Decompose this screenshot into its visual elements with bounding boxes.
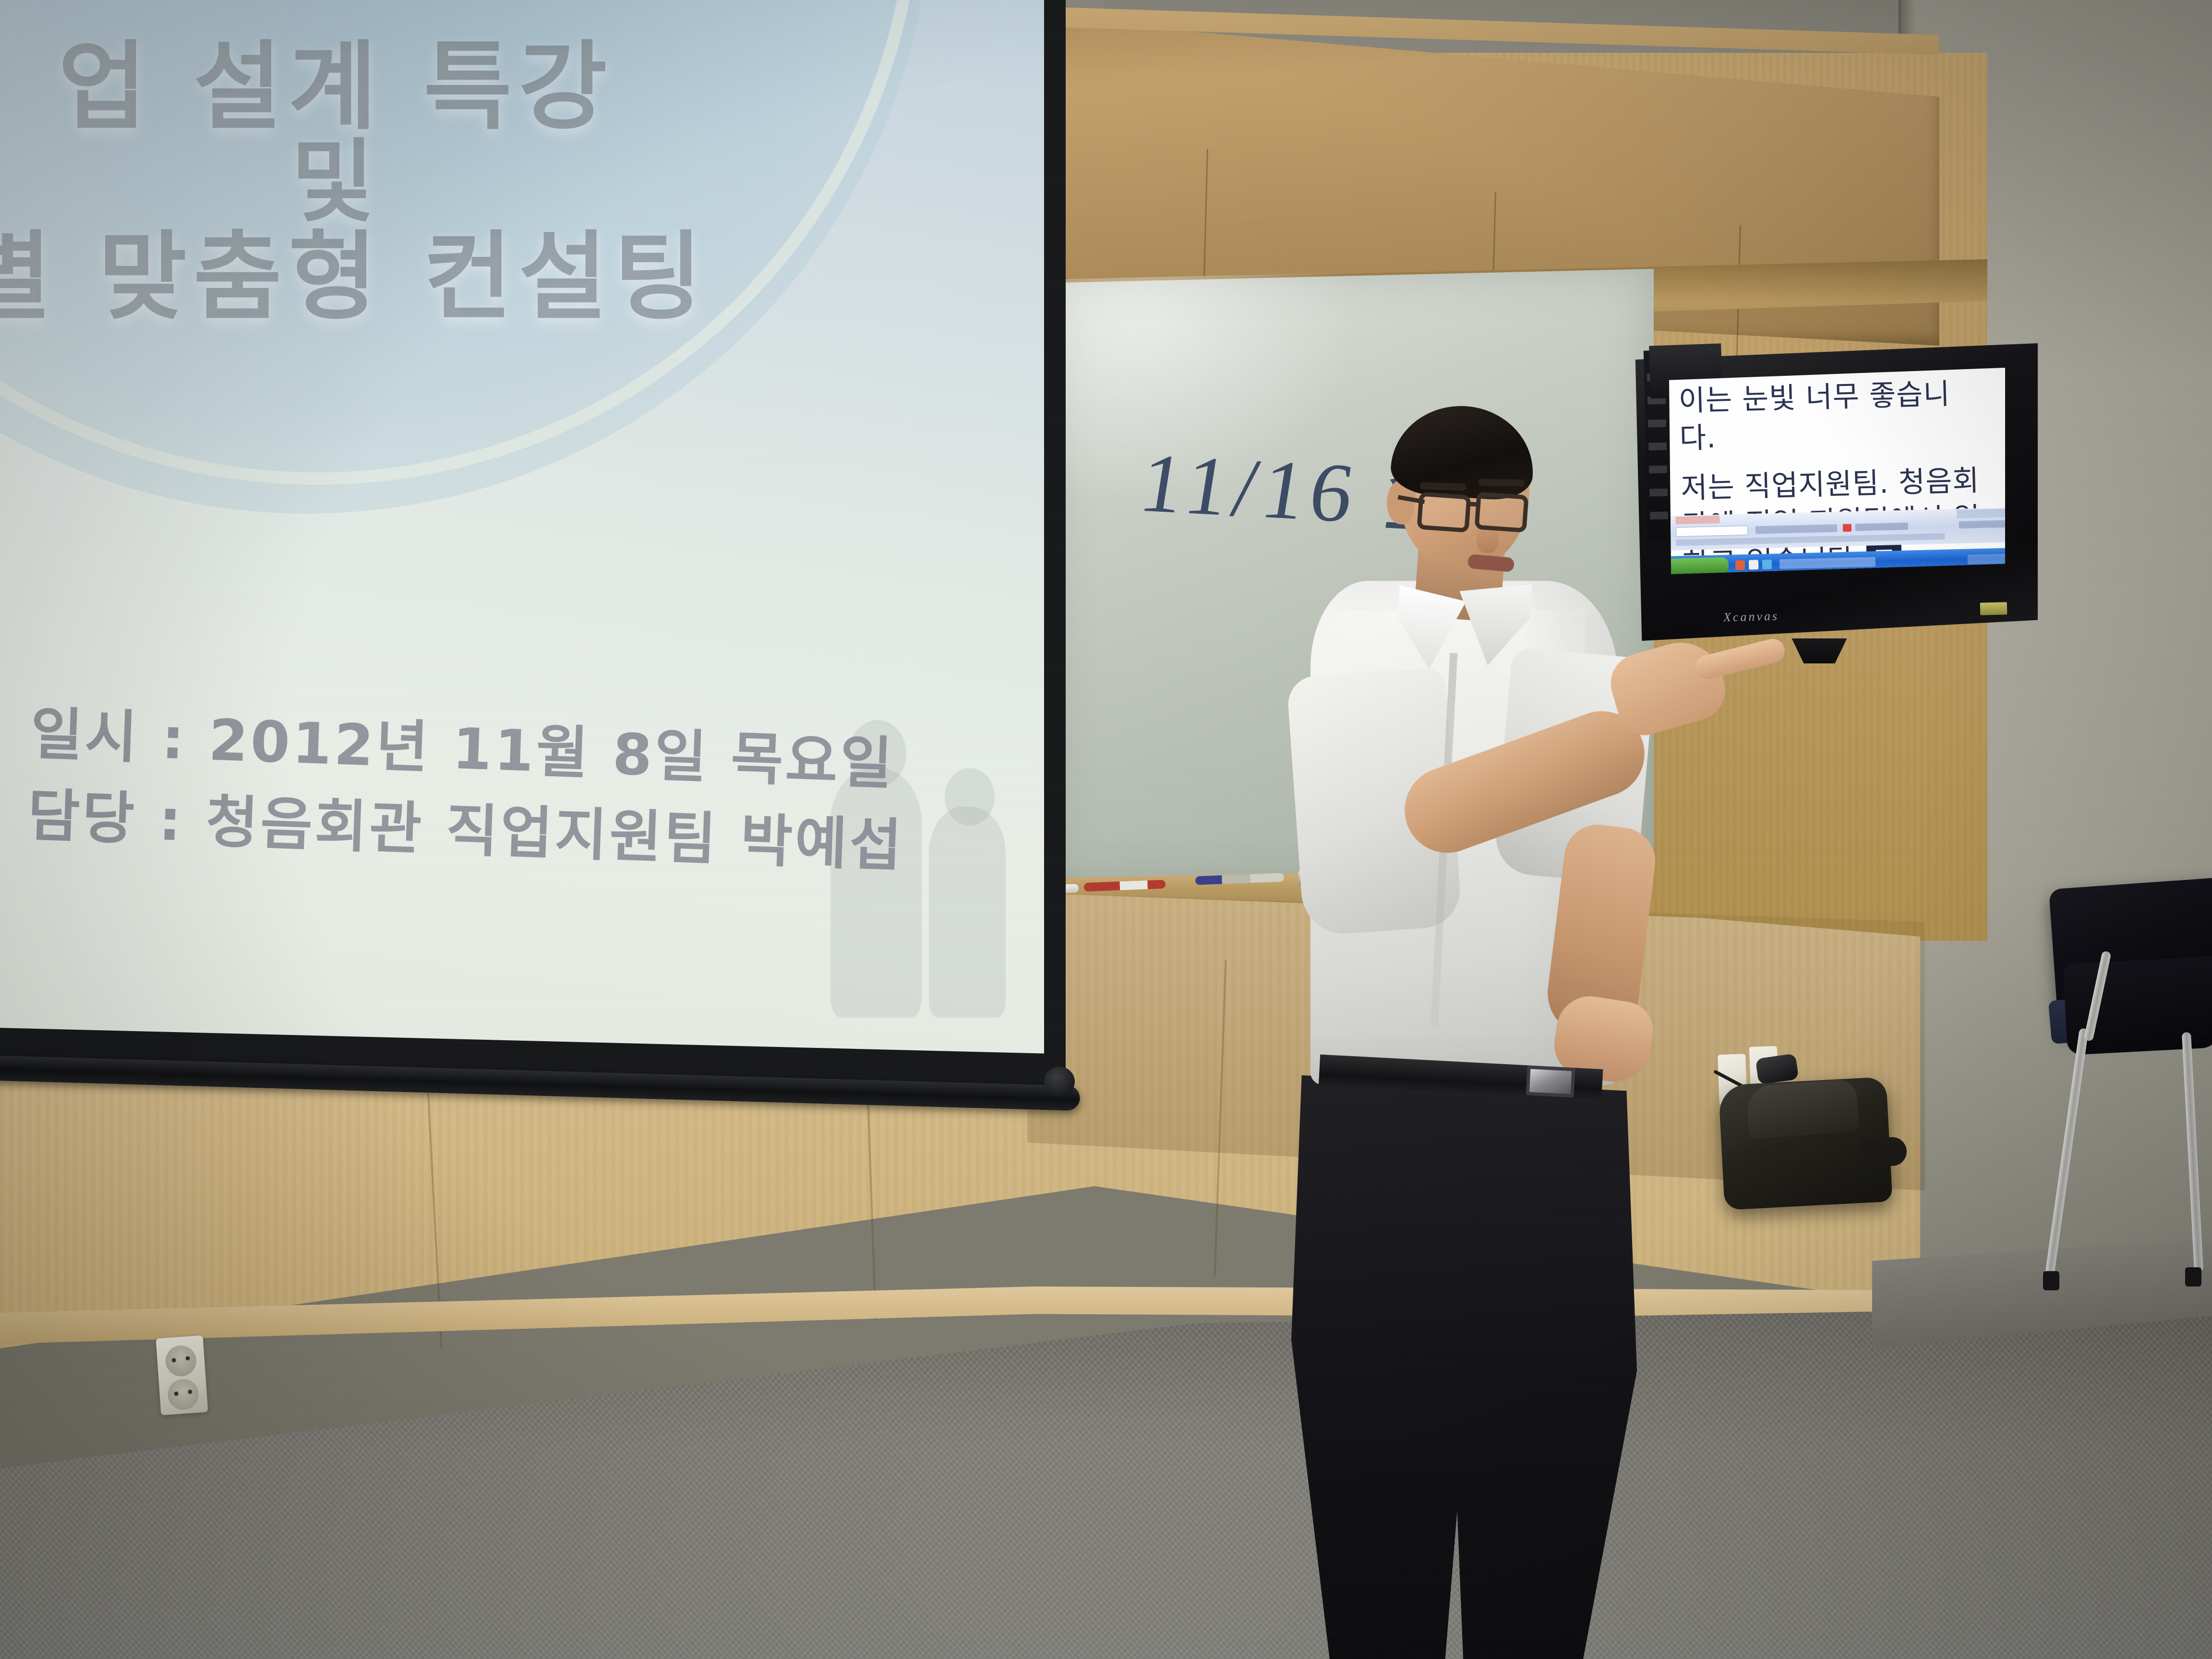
outlet-pin — [174, 1392, 179, 1396]
system-tray[interactable] — [1968, 554, 2005, 565]
carpet-floor — [0, 1306, 2212, 1659]
presenter — [1190, 403, 1651, 1579]
toolbar-scrollbar[interactable] — [1957, 508, 2005, 518]
slide-title-line-3: 별 맞춤형 컨설팅 — [0, 228, 912, 326]
outlet-pin — [171, 1358, 176, 1363]
toolbar-field — [1676, 526, 1748, 537]
outlet-pin — [185, 1356, 190, 1361]
start-button[interactable] — [1671, 557, 1729, 574]
chair-foot-left — [2043, 1271, 2059, 1290]
stacking-chair[interactable] — [2035, 874, 2212, 1306]
slide-info-block: 일시 : 2012년 11월 8일 목요일 담당 : 청음회관 직업지원팀 박예… — [26, 693, 1016, 890]
tv-button-channel-up[interactable] — [1649, 466, 1667, 474]
chair-leg-front-left — [2045, 1028, 2089, 1276]
glasses-lens-right — [1474, 492, 1528, 532]
tv-button-power[interactable] — [1650, 512, 1668, 520]
tv-button-channel-down[interactable] — [1649, 489, 1668, 497]
projection-screen-surface: 업 설계 특강 및 별 맞춤형 컨설팅 일시 : 2012년 11월 8일 목요… — [0, 0, 1044, 1075]
toolbar-label — [1855, 523, 1908, 531]
toolbar-right-label — [1959, 520, 2005, 529]
presenter-trousers — [1291, 1075, 1637, 1659]
slide-title-line-1: 업 설계 특강 — [0, 38, 912, 136]
classroom-photo-scene: 11/16 金 업 설계 특강 및 별 맞춤형 컨설팅 — [0, 0, 2212, 1659]
slide-title-line-2: 및 — [0, 136, 912, 228]
chair-leg-front-right — [2182, 1032, 2203, 1272]
presenter-belt-buckle — [1526, 1065, 1575, 1097]
outlet-socket-top — [165, 1345, 197, 1377]
tv-power-led — [1980, 602, 2008, 615]
quicklaunch-icon-3[interactable] — [1762, 560, 1772, 569]
toolbar-title-chip — [1675, 516, 1719, 524]
outlet-pin — [188, 1390, 192, 1395]
tv-brand-label: Xcanvas — [1723, 609, 1779, 625]
slide-title: 업 설계 특강 및 별 맞춤형 컨설팅 — [0, 38, 912, 326]
chair-foot-right — [2185, 1267, 2201, 1286]
toolbar-red-icon — [1843, 524, 1851, 531]
presenter-eyebrow-right — [1479, 479, 1525, 487]
glasses-bridge — [1468, 502, 1481, 507]
tv-screen: 이는 눈빛 너무 좋습니 다. 저는 직업지원팀. 청음회 관에 직업 지원팀에… — [1669, 368, 2005, 574]
backpack-flap — [1745, 1079, 1859, 1139]
backpack-strap — [1862, 1136, 1908, 1168]
taskbar-window-button[interactable] — [1779, 557, 1875, 569]
glasses-lens-left — [1417, 492, 1471, 532]
quicklaunch-icon-2[interactable] — [1749, 560, 1758, 569]
wall-outlet-left[interactable] — [156, 1335, 208, 1415]
quicklaunch-icon-1[interactable] — [1735, 560, 1745, 570]
outlet-socket-bottom — [167, 1378, 200, 1411]
toolbar-icon-group — [1755, 524, 1837, 534]
